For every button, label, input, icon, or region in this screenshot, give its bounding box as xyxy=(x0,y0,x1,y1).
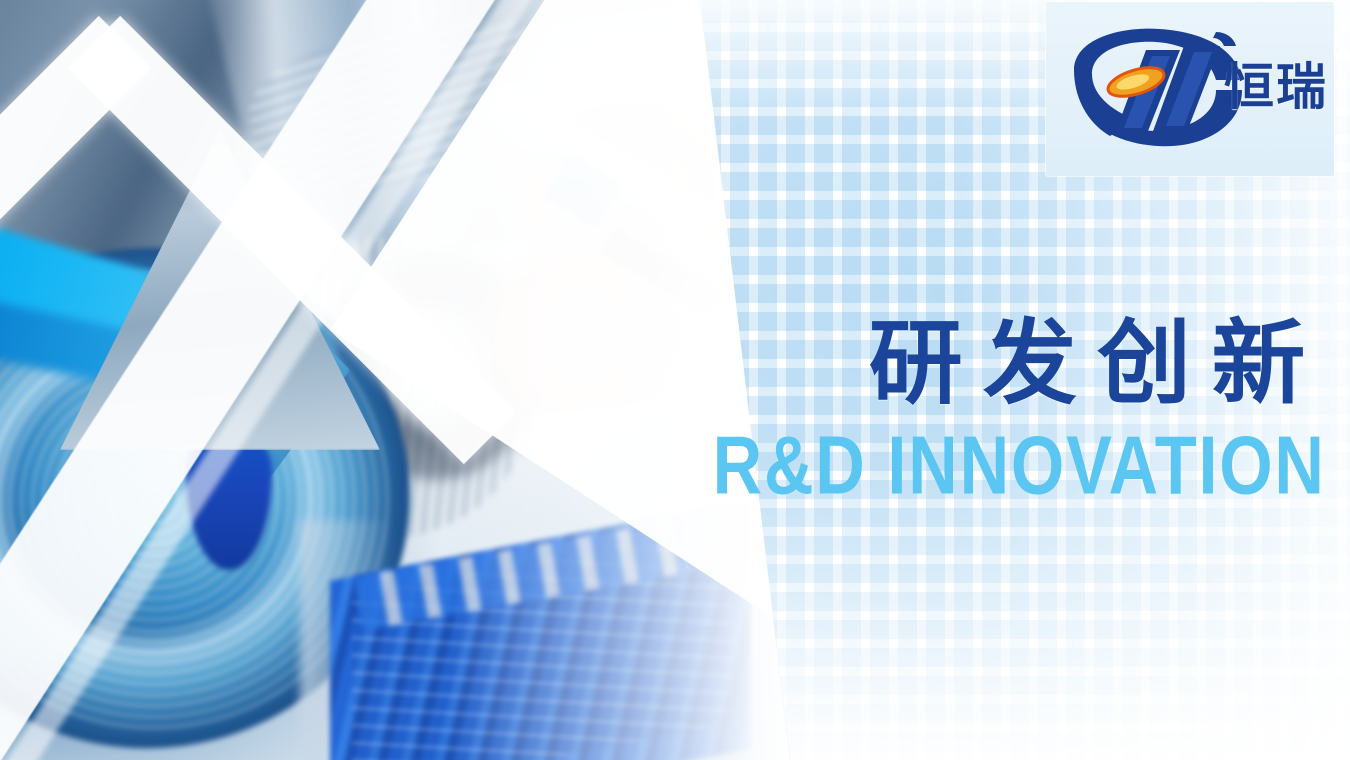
headline-block: 研发创新 R&D INNOVATION xyxy=(629,318,1326,504)
headline-chinese: 研发创新 xyxy=(615,318,1326,410)
hengrui-swoosh-icon xyxy=(1066,24,1246,154)
company-logo: 恒瑞 xyxy=(1046,2,1334,176)
headline-english: R&D INNOVATION xyxy=(713,424,1326,507)
rd-innovation-banner: 研发创新 R&D INNOVATION xyxy=(0,0,1350,760)
logo-company-name: 恒瑞 xyxy=(1224,62,1328,112)
